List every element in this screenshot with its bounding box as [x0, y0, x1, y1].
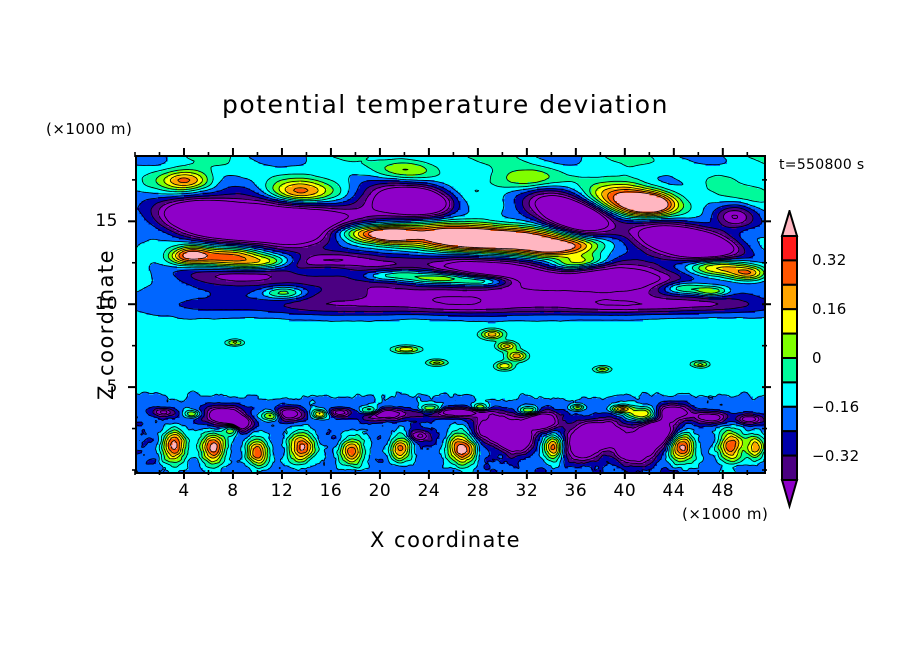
y-tick-label: 5: [107, 377, 118, 397]
colorbar-label: 0.32: [812, 251, 847, 269]
colorbar-label: 0.16: [812, 300, 847, 318]
page-title: potential temperature deviation: [222, 90, 669, 119]
x-tick-label: 8: [227, 481, 238, 501]
y-axis-ticks: [123, 155, 137, 474]
x-tick-label: 28: [467, 481, 490, 501]
x-tick-label: 40: [614, 481, 637, 501]
x-axis-ticks-top: [135, 143, 766, 157]
y-axis-units-label: (×1000 m): [46, 120, 132, 138]
x-tick-label: 4: [178, 481, 189, 501]
contour-field: [137, 157, 764, 472]
y-axis-ticks-right: [762, 155, 776, 474]
y-tick-label: 10: [95, 294, 118, 314]
x-tick-label: 16: [320, 481, 343, 501]
x-tick-label: 24: [418, 481, 441, 501]
x-axis-title: X coordinate: [370, 528, 521, 552]
colorbar-label: −0.32: [812, 447, 859, 465]
time-annotation: t=550800 s: [779, 157, 864, 173]
x-tick-label: 32: [516, 481, 539, 501]
colorbar-label: −0.16: [812, 398, 859, 416]
x-tick-label: 20: [369, 481, 392, 501]
y-tick-label: 15: [95, 211, 118, 231]
x-tick-label: 12: [271, 481, 294, 501]
contour-plot-area: [135, 155, 766, 474]
x-tick-label: 48: [711, 481, 734, 501]
colorbar-label: 0: [812, 349, 822, 367]
x-tick-label: 44: [663, 481, 686, 501]
x-tick-label: 36: [565, 481, 588, 501]
x-axis-units-label: (×1000 m): [682, 505, 768, 523]
